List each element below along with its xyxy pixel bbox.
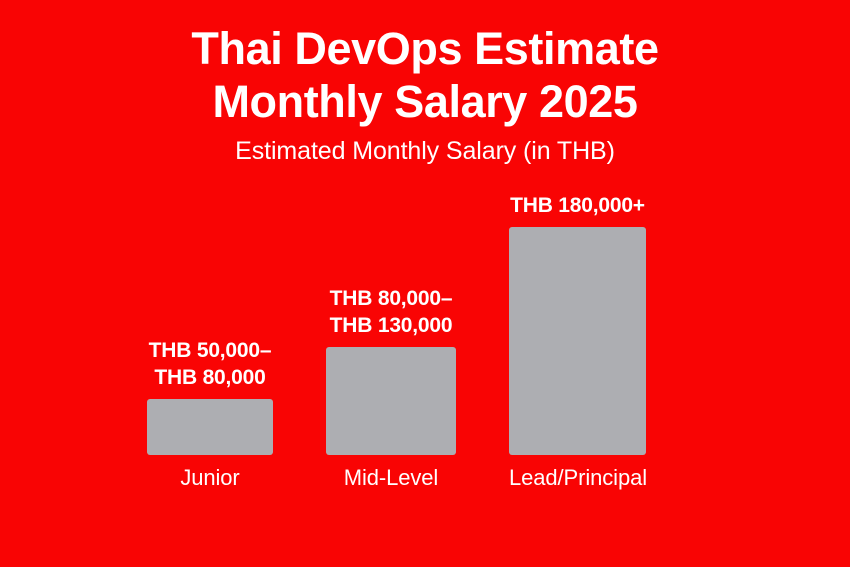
bar-rect-junior — [147, 399, 273, 455]
bar-rect-lead-principal — [509, 227, 646, 455]
bar-category-junior: Junior — [147, 465, 273, 491]
bar-value-label-lead-principal: THB 180,000+ — [510, 192, 645, 220]
bar-group-lead-principal: THB 180,000+ — [509, 192, 646, 455]
bar-value-label-junior-line-1: THB 50,000– — [149, 337, 272, 365]
bar-chart: THB 50,000– THB 80,000 Junior THB 80,000… — [0, 0, 850, 567]
bar-value-label-junior-line-2: THB 80,000 — [149, 364, 272, 392]
salary-chart-poster: Thai DevOps Estimate Monthly Salary 2025… — [0, 0, 850, 567]
bar-group-mid-level: THB 80,000– THB 130,000 — [326, 285, 456, 455]
bar-value-label-mid-level-line-1: THB 80,000– — [330, 285, 453, 313]
bar-value-label-mid-level-line-2: THB 130,000 — [330, 312, 453, 340]
bar-value-label-lead-principal-line-1: THB 180,000+ — [510, 192, 645, 220]
bar-rect-mid-level — [326, 347, 456, 455]
bar-category-lead-principal: Lead/Principal — [509, 465, 646, 491]
bar-value-label-mid-level: THB 80,000– THB 130,000 — [330, 285, 453, 340]
bar-category-mid-level: Mid-Level — [326, 465, 456, 491]
bar-value-label-junior: THB 50,000– THB 80,000 — [149, 337, 272, 392]
bar-group-junior: THB 50,000– THB 80,000 — [147, 337, 273, 455]
